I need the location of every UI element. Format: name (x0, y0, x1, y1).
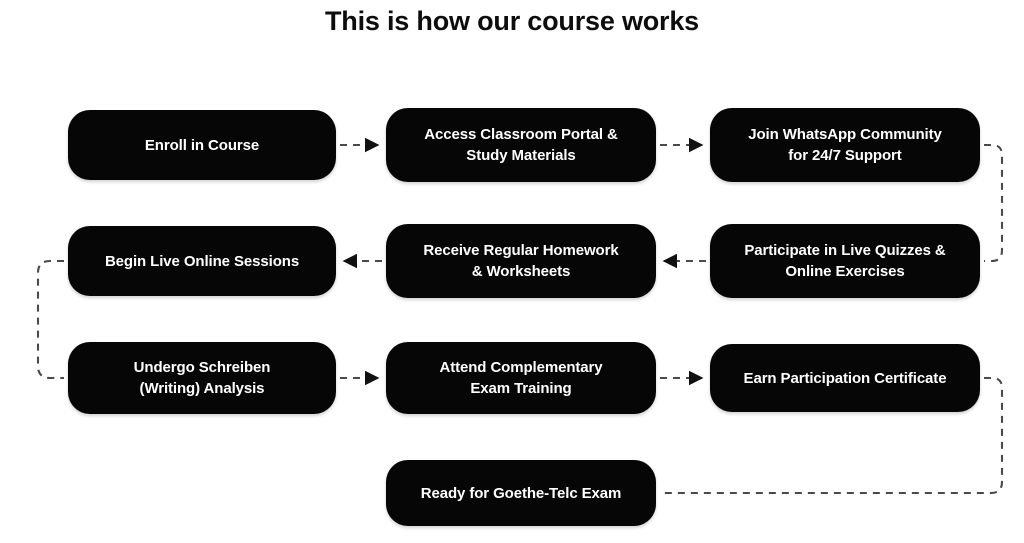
page-title: This is how our course works (0, 4, 1024, 38)
node-join-whatsapp-community[interactable]: Join WhatsApp Community for 24/7 Support (710, 108, 980, 182)
node-label: Undergo Schreiben (Writing) Analysis (134, 357, 271, 399)
node-undergo-schreiben-analysis[interactable]: Undergo Schreiben (Writing) Analysis (68, 342, 336, 414)
node-ready-for-goethe-telc-exam[interactable]: Ready for Goethe-Telc Exam (386, 460, 656, 526)
node-label: Participate in Live Quizzes & Online Exe… (744, 240, 945, 282)
node-access-classroom-portal[interactable]: Access Classroom Portal & Study Material… (386, 108, 656, 182)
node-label: Earn Participation Certificate (744, 368, 947, 389)
flowchart-canvas: This is how our course works Enroll in C… (0, 0, 1024, 543)
node-enroll-in-course[interactable]: Enroll in Course (68, 110, 336, 180)
node-label: Begin Live Online Sessions (105, 251, 299, 272)
node-label: Enroll in Course (145, 135, 259, 156)
node-label: Attend Complementary Exam Training (439, 357, 602, 399)
node-attend-complementary-exam-training[interactable]: Attend Complementary Exam Training (386, 342, 656, 414)
node-label: Ready for Goethe-Telc Exam (421, 483, 622, 504)
edge-live-sessions-to-schreiben (38, 261, 64, 378)
node-earn-participation-certificate[interactable]: Earn Participation Certificate (710, 344, 980, 412)
node-begin-live-online-sessions[interactable]: Begin Live Online Sessions (68, 226, 336, 296)
node-label: Receive Regular Homework & Worksheets (423, 240, 618, 282)
node-receive-regular-homework[interactable]: Receive Regular Homework & Worksheets (386, 224, 656, 298)
node-label: Join WhatsApp Community for 24/7 Support (748, 124, 942, 166)
node-participate-in-live-quizzes[interactable]: Participate in Live Quizzes & Online Exe… (710, 224, 980, 298)
node-label: Access Classroom Portal & Study Material… (424, 124, 617, 166)
edge-whatsapp-to-quizzes (984, 145, 1002, 261)
